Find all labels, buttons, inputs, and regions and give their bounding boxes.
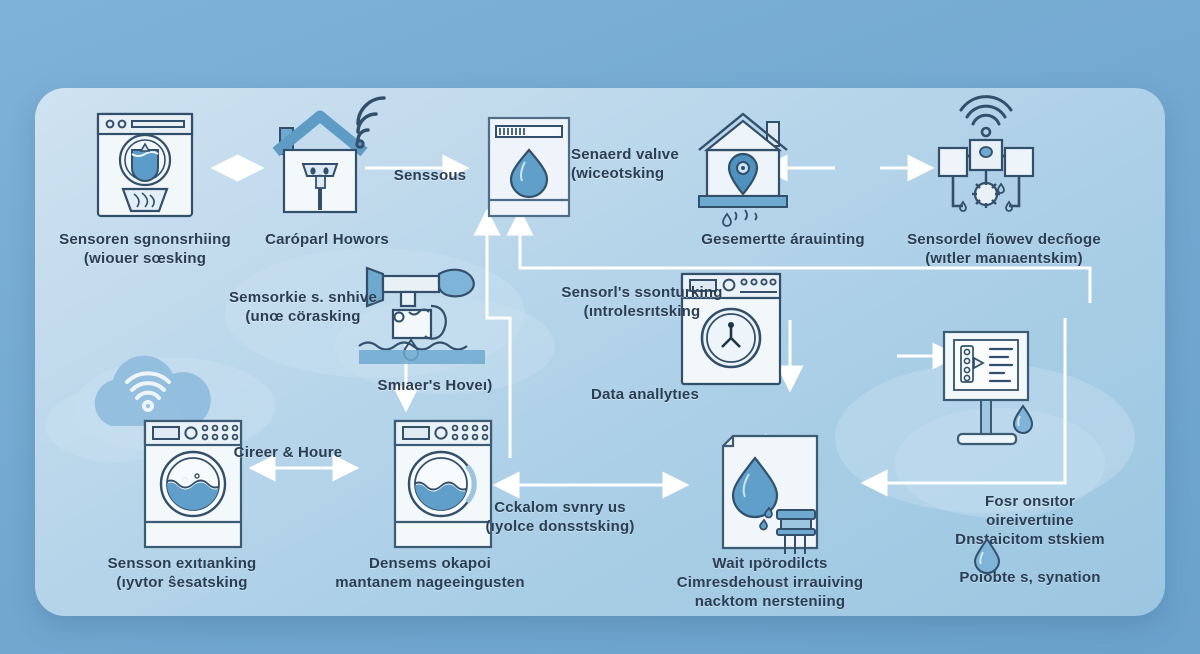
- edge-label-control: Cckalom svnry us (ıyolce donsstsking): [455, 498, 665, 536]
- washing-machine-water-sensor-icon: [90, 110, 200, 220]
- edge-label-cycle: Cireer & Houre: [213, 443, 363, 462]
- water-drop-small-icon: [973, 536, 1001, 570]
- label-washer-left: Sensson exıtıanking(ıyvtor ŝesatsking: [67, 554, 297, 592]
- water-drop-meter-icon: [483, 116, 575, 218]
- diagram-panel: Sensoren sgnonsrhiing(wiouer sœsking: [35, 88, 1165, 616]
- label-smart-faucet-sub: Smıaer's Hoveı): [335, 376, 535, 395]
- node-flow-controller[interactable]: [925, 104, 1047, 222]
- label-water-report-sheet: Wait ıpörodilctsCimresdehoust irrauiving…: [635, 554, 905, 612]
- edge-label-sensors: Senssous: [365, 166, 495, 185]
- house-leak-pin-icon: [681, 106, 807, 228]
- node-analytics-display[interactable]: [928, 330, 1062, 460]
- label-leak-detection-house: Gesemertte árauinting: [663, 230, 903, 249]
- label-analytics-display: Fosr onsıtoroireivertıineDnstaicitom sts…: [915, 492, 1145, 550]
- diagram-canvas: Sensoren sgnonsrhiing(wiouer sœsking: [0, 0, 1200, 654]
- node-washer-water-sensor[interactable]: [90, 110, 200, 220]
- node-washer-left[interactable]: [141, 418, 245, 550]
- water-drop-document-icon: [707, 430, 837, 556]
- dashboard-screen-icon: [928, 330, 1062, 460]
- washing-machine-water-icon: [141, 418, 245, 550]
- node-leak-detection-house[interactable]: [681, 106, 807, 228]
- label-analytics-display-sub: Poiobte s, synation: [915, 568, 1145, 587]
- label-washer-right: Densems okapoimantanem nageeingusten: [285, 554, 575, 592]
- label-appliance-monitor: Sensorl's ssonturking(ıntrolesrıtsking: [527, 283, 757, 321]
- label-smart-faucet: Semsorkie s. snhive(unœ cörasking: [183, 288, 423, 326]
- label-washer-water-sensor: Sensoren sgnonsrhiing(wiouer sœsking: [45, 230, 245, 268]
- wifi-valve-controller-icon: [925, 104, 1047, 222]
- label-flow-controller: Sensordel ñowev decñoge(wıtler manıaents…: [875, 230, 1133, 268]
- node-water-meter-panel[interactable]: [483, 116, 575, 218]
- edge-label-analytics: Data anallytıes: [555, 385, 735, 404]
- node-water-report-sheet[interactable]: [707, 430, 837, 556]
- label-smart-home-hub: Caróparl Howors: [237, 230, 417, 249]
